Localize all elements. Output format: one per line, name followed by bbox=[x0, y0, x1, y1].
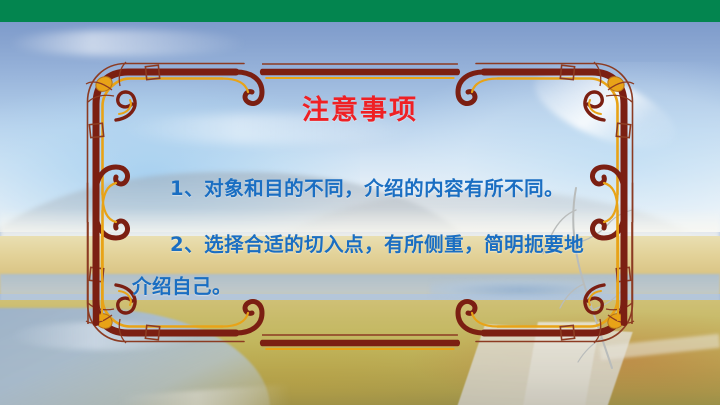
slide-title: 注意事项 bbox=[0, 96, 720, 126]
body-paragraph-2: 2、选择合适的切入点，有所侧重，简明扼要地介绍自己。 bbox=[132, 224, 592, 308]
top-green-band bbox=[0, 0, 720, 22]
slide-body: 1、对象和目的不同，介绍的内容有所不同。 2、选择合适的切入点，有所侧重，简明扼… bbox=[132, 168, 592, 308]
body-paragraph-1: 1、对象和目的不同，介绍的内容有所不同。 bbox=[132, 168, 592, 210]
slide: 注意事项 1、对象和目的不同，介绍的内容有所不同。 2、选择合适的切入点，有所侧… bbox=[0, 0, 720, 405]
slide-content: 注意事项 1、对象和目的不同，介绍的内容有所不同。 2、选择合适的切入点，有所侧… bbox=[0, 0, 720, 405]
